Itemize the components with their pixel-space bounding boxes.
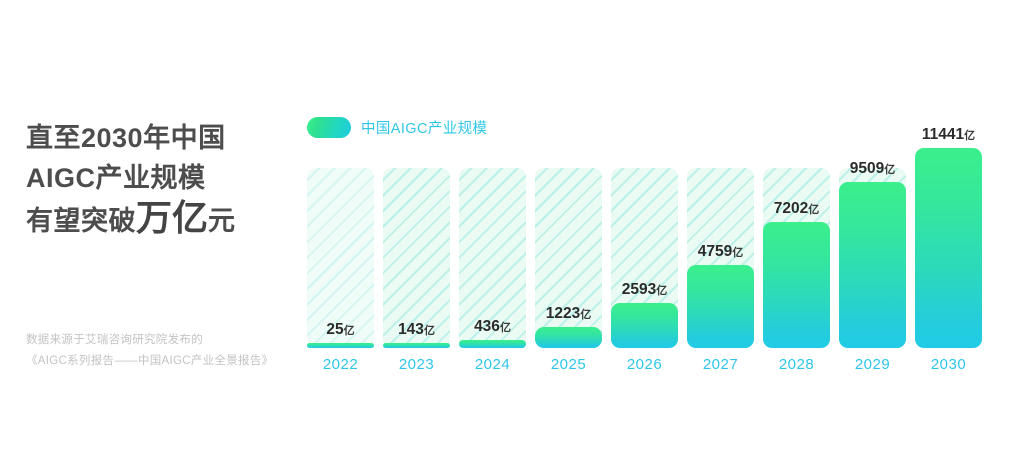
bar-value-number: 2593 [622, 281, 656, 298]
bar-value-label: 25亿 [307, 321, 374, 339]
bar-value-number: 25 [326, 321, 343, 338]
bar-group[interactable]: 25亿2022 [307, 0, 374, 450]
bar-fill [763, 222, 830, 348]
bar-category-label: 2024 [459, 356, 526, 373]
bar-value-number: 11441 [922, 126, 964, 143]
bar-category-label: 2023 [383, 356, 450, 373]
bar-value-label: 7202亿 [763, 200, 830, 218]
bar-fill [839, 182, 906, 348]
bar-value-unit: 亿 [656, 285, 667, 297]
bar-value-number: 143 [398, 321, 424, 338]
bar-value-unit: 亿 [964, 130, 975, 142]
bar-group[interactable]: 143亿2023 [383, 0, 450, 450]
bar-fill [915, 148, 982, 348]
infographic-root: 直至2030年中国 AIGC产业规模 有望突破万亿元 数据来源于艾瑞咨询研究院发… [0, 0, 1010, 450]
bar-group[interactable]: 9509亿2029 [839, 0, 906, 450]
bar-value-label: 436亿 [459, 318, 526, 336]
bar-fill [307, 343, 374, 348]
bar-value-unit: 亿 [808, 204, 819, 216]
bar-value-number: 9509 [850, 160, 884, 177]
bar-category-label: 2029 [839, 356, 906, 373]
bar-value-unit: 亿 [884, 164, 895, 176]
bar-value-unit: 亿 [424, 325, 435, 337]
bar-group[interactable]: 2593亿2026 [611, 0, 678, 450]
bar-value-label: 9509亿 [839, 160, 906, 178]
bar-group[interactable]: 1223亿2025 [535, 0, 602, 450]
bar-fill [383, 343, 450, 348]
bar-value-label: 11441亿 [915, 126, 982, 144]
bar-value-label: 4759亿 [687, 243, 754, 261]
bar-value-number: 1223 [546, 305, 580, 322]
bar-category-label: 2022 [307, 356, 374, 373]
bar-group[interactable]: 7202亿2028 [763, 0, 830, 450]
bar-value-unit: 亿 [500, 322, 511, 334]
bar-category-label: 2030 [915, 356, 982, 373]
bar-chart: 25亿2022143亿2023436亿20241223亿20252593亿202… [0, 0, 1010, 450]
bar-value-unit: 亿 [580, 309, 591, 321]
bar-value-label: 2593亿 [611, 281, 678, 299]
bar-group[interactable]: 11441亿2030 [915, 0, 982, 450]
bar-group[interactable]: 4759亿2027 [687, 0, 754, 450]
bar-value-label: 143亿 [383, 321, 450, 339]
bar-category-label: 2026 [611, 356, 678, 373]
bar-value-number: 4759 [698, 243, 732, 260]
bar-fill [611, 303, 678, 348]
bar-value-unit: 亿 [732, 247, 743, 259]
bar-fill [687, 265, 754, 348]
bar-value-number: 436 [474, 318, 500, 335]
bar-value-number: 7202 [774, 200, 808, 217]
bar-value-unit: 亿 [344, 325, 355, 337]
bar-category-label: 2027 [687, 356, 754, 373]
bar-fill [535, 327, 602, 348]
bar-group[interactable]: 436亿2024 [459, 0, 526, 450]
bar-category-label: 2028 [763, 356, 830, 373]
bar-value-label: 1223亿 [535, 305, 602, 323]
bar-fill [459, 340, 526, 348]
bar-category-label: 2025 [535, 356, 602, 373]
